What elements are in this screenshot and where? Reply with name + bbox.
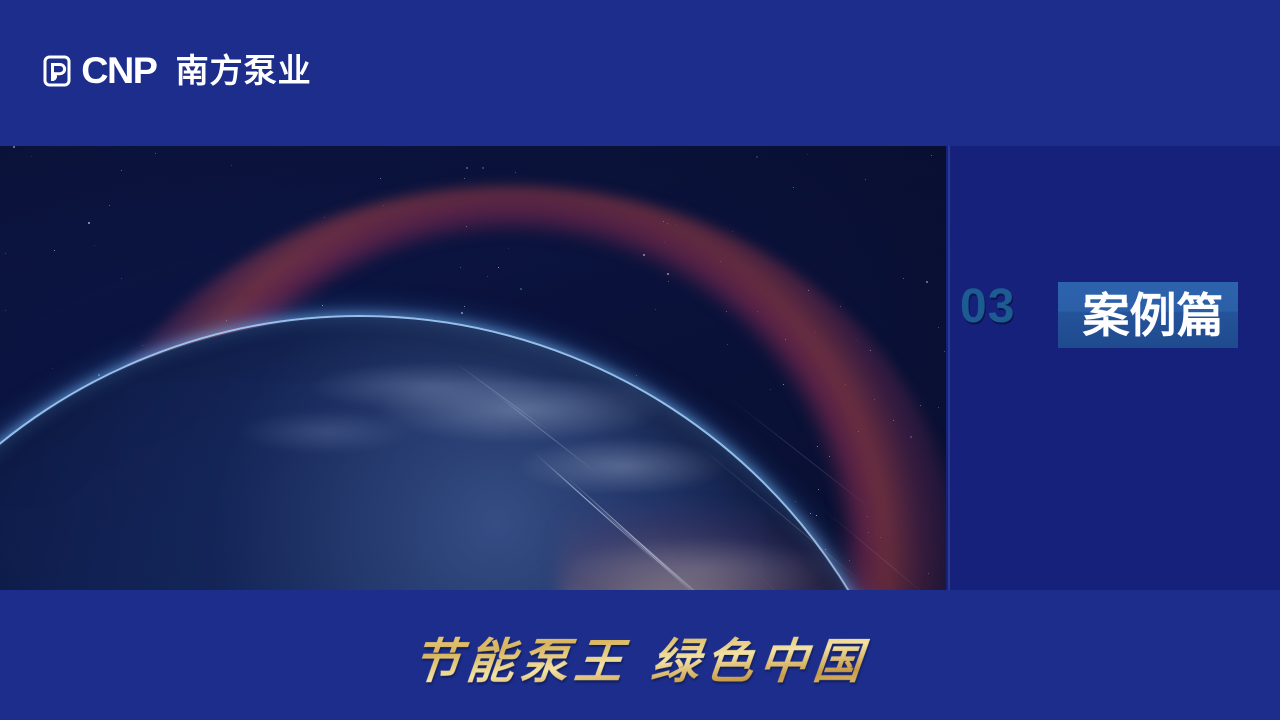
- orbital-streak-lines: [0, 146, 946, 590]
- section-number: 03: [960, 283, 1015, 331]
- earth-from-space-photo: [0, 146, 946, 590]
- panel-divider: [948, 146, 950, 590]
- company-slogan: 节能泵王 绿色中国: [0, 636, 1280, 689]
- section-title: 案例篇: [1066, 283, 1240, 351]
- section-side-panel: [946, 146, 1280, 590]
- brand-logo: CNP 南方泵业: [40, 52, 312, 89]
- slide-header: CNP 南方泵业: [0, 0, 1280, 146]
- cnp-pump-monogram-icon: [40, 54, 74, 88]
- logo-chinese-text: 南方泵业: [176, 54, 312, 87]
- logo-latin-text: CNP: [81, 52, 156, 89]
- presentation-slide: CNP 南方泵业 03 案例篇 节能泵王 绿色中国: [0, 0, 1280, 720]
